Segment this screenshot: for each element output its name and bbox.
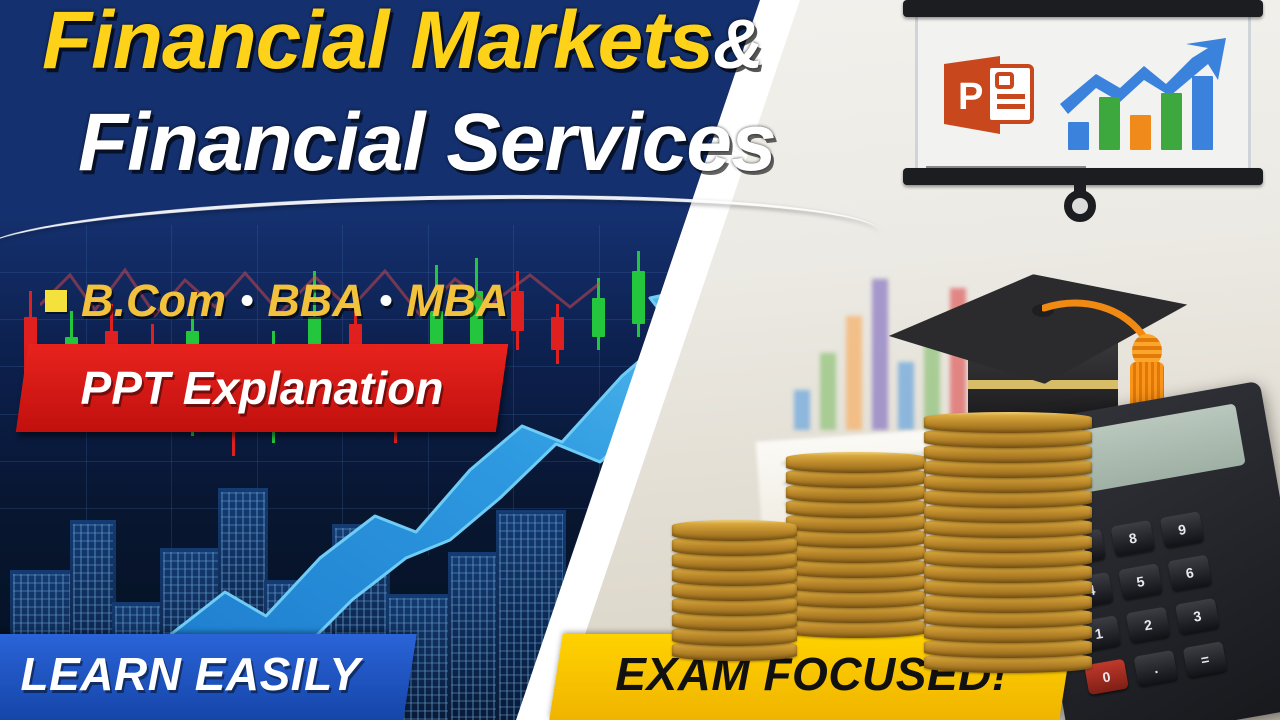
calculator-key[interactable]: 9 (1160, 511, 1205, 547)
powerpoint-logo-letter: P (958, 76, 983, 118)
bar-chart-bar (1161, 93, 1182, 150)
coin-stack-icon (924, 412, 1092, 677)
learn-easily-label: LEARN EASILY (0, 634, 410, 714)
ppt-explanation-label: PPT Explanation (22, 344, 502, 432)
course-list: B.Com • BBA • MBA (45, 275, 509, 327)
page-title-line1: Financial Markets& (42, 0, 763, 88)
background-bar (846, 316, 862, 430)
projector-screen-icon: P (903, 0, 1263, 200)
course-item-mba: MBA (406, 275, 508, 327)
projector-top-bar (903, 0, 1263, 17)
background-bar (794, 390, 810, 430)
calculator-key[interactable]: 5 (1118, 563, 1163, 599)
course-item-bba: BBA (267, 275, 365, 327)
growth-bar-chart-icon (1058, 36, 1238, 156)
ppt-explanation-badge: PPT Explanation (16, 344, 508, 432)
square-bullet-icon (45, 290, 67, 312)
bar-chart-bar (1099, 97, 1120, 150)
coin (786, 452, 926, 473)
youtube-thumbnail: 7894561230.= P (0, 0, 1280, 720)
course-separator-1: • (240, 282, 253, 320)
calculator-key[interactable]: 8 (1111, 520, 1156, 556)
course-separator-2: • (379, 282, 392, 320)
coin (924, 412, 1092, 433)
learn-easily-banner: LEARN EASILY (0, 634, 417, 720)
course-item-bcom: B.Com (81, 275, 226, 327)
coin-stack-icon (786, 452, 926, 642)
calculator-key[interactable]: 6 (1167, 555, 1212, 591)
page-title-line2: Financial Services (78, 96, 776, 190)
bar-chart-bar (1192, 76, 1213, 150)
title-line1-text: Financial Markets (42, 0, 713, 86)
bar-chart-bar (1130, 115, 1151, 150)
background-bar (820, 353, 836, 430)
calculator-key[interactable]: = (1183, 641, 1228, 677)
coin (672, 520, 797, 541)
calculator-key[interactable]: 2 (1126, 607, 1171, 643)
bar-chart-bar (1068, 122, 1089, 150)
calculator-key[interactable]: 3 (1175, 598, 1220, 634)
title-ampersand: & (713, 5, 763, 83)
calculator-key[interactable]: . (1133, 650, 1178, 686)
graduation-cap-icon (880, 252, 1200, 422)
coin-stack-icon (672, 520, 797, 665)
projector-canvas: P (915, 14, 1251, 172)
powerpoint-logo-icon: P (942, 54, 1038, 136)
projector-pull-ring-icon[interactable] (1064, 190, 1096, 222)
